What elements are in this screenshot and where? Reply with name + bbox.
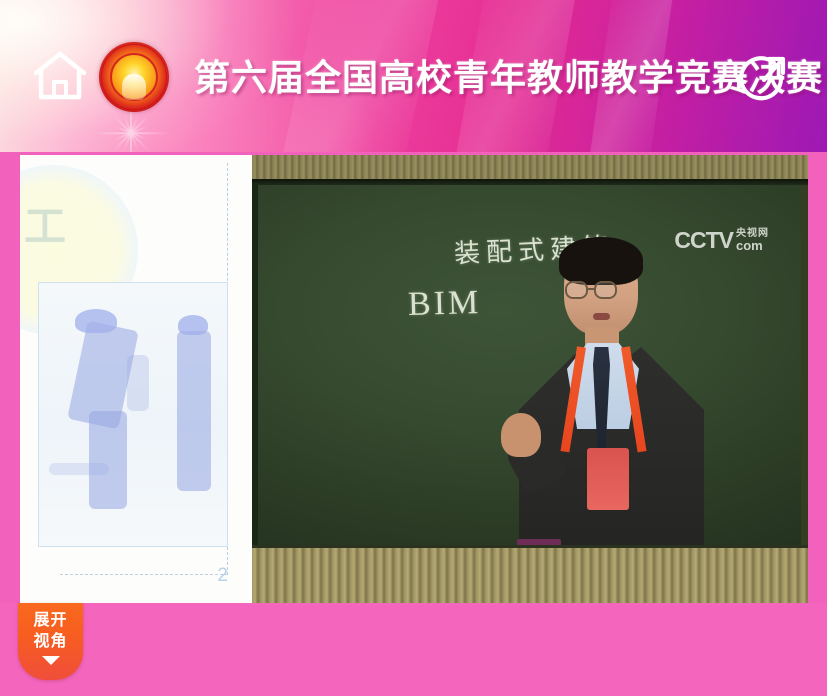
expand-view-button[interactable]: 展开 视角 — [18, 603, 83, 680]
classroom-scene: 装配式建筑 BIM CCTV 央视网 com — [252, 155, 808, 603]
speaker-mouth — [593, 313, 610, 320]
live-stream-page: 第六届全国高校青年教师教学竞赛决赛 工 — [0, 0, 827, 696]
projection-photo — [38, 282, 228, 547]
speaker-glasses-right — [594, 281, 617, 299]
home-icon — [31, 49, 89, 103]
projection-screen: 工 2 — [20, 155, 252, 603]
speaker-glasses-bridge — [588, 288, 594, 290]
page-title: 第六届全国高校青年教师教学竞赛决赛 — [194, 52, 714, 104]
blackboard-text-line2: BIM — [408, 284, 482, 324]
photo-ground — [49, 463, 109, 475]
sparkle-decoration — [130, 132, 132, 134]
speaker-id-badge — [587, 448, 629, 510]
chevron-down-icon — [42, 656, 60, 665]
expand-view-label-line1: 展开 — [18, 603, 83, 631]
video-player[interactable]: 工 2 装配式建筑 BIM CCTV — [20, 155, 808, 603]
wall-panel-bottom — [252, 545, 808, 603]
projection-page-number: 2 — [217, 565, 228, 587]
photo-worker2-helmet — [178, 315, 208, 335]
photo-worker-helmet — [75, 309, 117, 333]
status-bar: 展开 视角 正在观看：工科组决赛 — [0, 603, 827, 696]
competition-emblem-icon — [99, 42, 169, 112]
expand-view-label-line2: 视角 — [18, 631, 83, 652]
blackboard: 装配式建筑 BIM CCTV 央视网 com — [252, 185, 808, 545]
share-button[interactable] — [736, 48, 792, 104]
speaker-hand — [501, 413, 541, 457]
photo-worker3 — [127, 355, 149, 411]
speaker-hair — [559, 237, 643, 285]
speaker-glasses-left — [565, 281, 588, 299]
home-button[interactable] — [31, 49, 89, 103]
cctv-domain-label: com — [736, 239, 769, 252]
page-header-banner: 第六届全国高校青年教师教学竞赛决赛 — [0, 0, 827, 152]
photo-worker2-body — [177, 331, 211, 491]
photo-worker-legs — [89, 411, 127, 509]
wall-panel-top — [252, 155, 808, 179]
external-link-icon — [736, 48, 792, 104]
